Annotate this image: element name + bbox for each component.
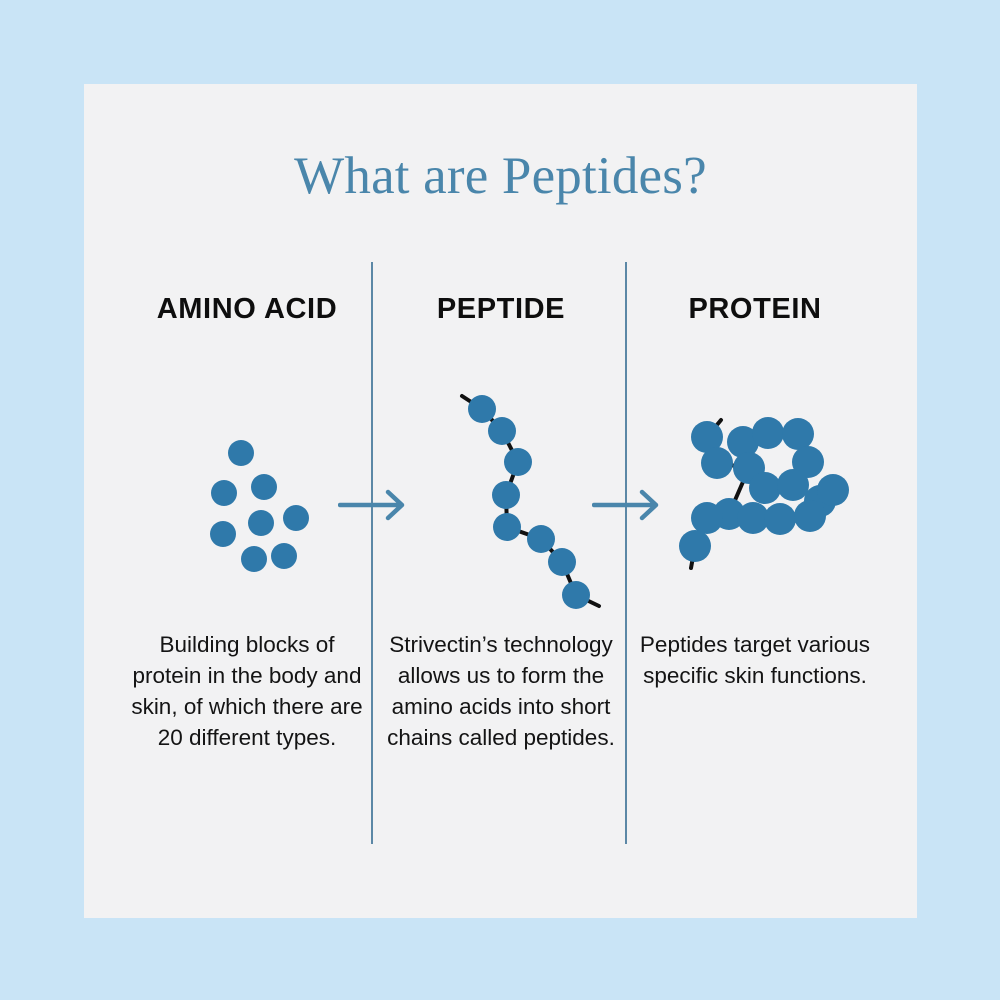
peptide-dot [548, 548, 576, 576]
column-heading-peptide: PEPTIDE [362, 293, 640, 326]
protein-dot [752, 417, 784, 449]
protein-dot [679, 530, 711, 562]
infographic-root: What are Peptides? AMINO ACID [0, 0, 1000, 1000]
peptide-chain-line [462, 396, 599, 606]
amino-dot [251, 474, 277, 500]
amino-dot [248, 510, 274, 536]
peptide-dot [493, 513, 521, 541]
amino-dot [283, 505, 309, 531]
amino-dot [271, 543, 297, 569]
arrow-right-icon [592, 488, 664, 522]
protein-dot [794, 500, 826, 532]
amino-dot [241, 546, 267, 572]
column-caption-amino-acid: Building blocks of protein in the body a… [125, 629, 369, 753]
amino-dot [210, 521, 236, 547]
protein-dot [777, 469, 809, 501]
infographic-card: What are Peptides? AMINO ACID [84, 84, 917, 918]
peptide-dot [488, 417, 516, 445]
column-heading-amino-acid: AMINO ACID [108, 293, 386, 326]
page-title: What are Peptides? [84, 146, 917, 206]
peptide-dot [492, 481, 520, 509]
peptide-dot [504, 448, 532, 476]
column-heading-protein: PROTEIN [616, 293, 894, 326]
peptide-dot [527, 525, 555, 553]
protein-dot [691, 502, 723, 534]
protein-dot [764, 503, 796, 535]
amino-dot [228, 440, 254, 466]
arrow-right-icon [338, 488, 410, 522]
column-caption-protein: Peptides target various specific skin fu… [633, 629, 877, 691]
protein-dot [782, 418, 814, 450]
protein-dot [817, 474, 849, 506]
column-caption-peptide: Strivectin’s technology allows us to for… [379, 629, 623, 753]
peptide-dot [562, 581, 590, 609]
protein-dot [701, 447, 733, 479]
protein-dot [749, 472, 781, 504]
peptide-dot [468, 395, 496, 423]
amino-dot [211, 480, 237, 506]
